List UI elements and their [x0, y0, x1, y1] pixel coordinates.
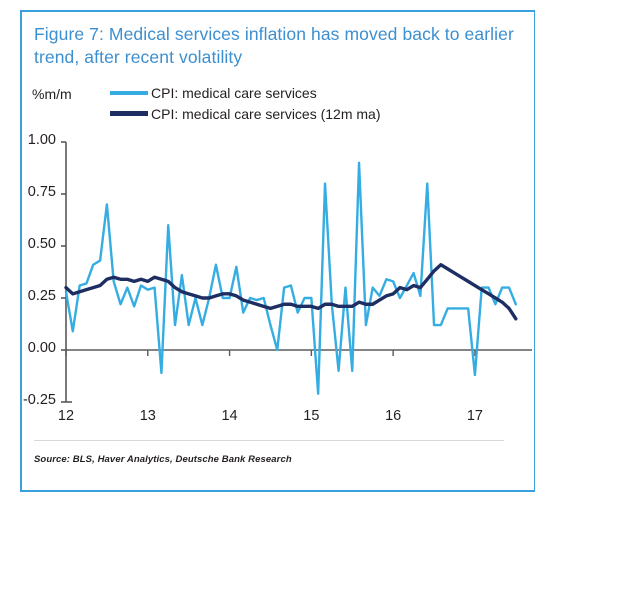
- x-tick-label: 16: [373, 408, 413, 424]
- x-tick-label: 14: [210, 408, 250, 424]
- x-tick-label: 17: [455, 408, 495, 424]
- y-tick-label: -0.25: [10, 392, 56, 408]
- source-divider: [34, 440, 504, 441]
- y-tick-label: 1.00: [10, 132, 56, 148]
- x-tick-label: 13: [128, 408, 168, 424]
- y-tick-label: 0.75: [10, 184, 56, 200]
- y-tick-label: 0.25: [10, 288, 56, 304]
- y-tick-label: 0.00: [10, 340, 56, 356]
- x-tick-label: 12: [46, 408, 86, 424]
- y-tick-label: 0.50: [10, 236, 56, 252]
- source-note: Source: BLS, Haver Analytics, Deutsche B…: [34, 454, 514, 465]
- figure-card: Figure 7: Medical services inflation has…: [20, 10, 535, 492]
- x-tick-label: 15: [291, 408, 331, 424]
